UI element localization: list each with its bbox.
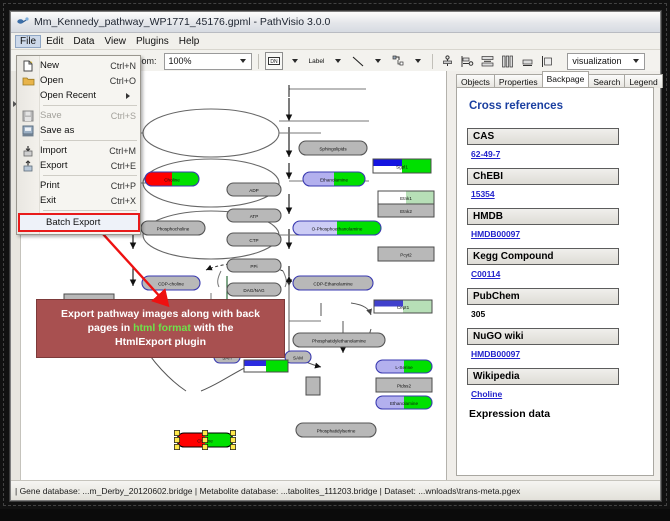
- file-menu-item-shortcut: Ctrl+M: [103, 146, 136, 156]
- callout-line-1: Export pathway images along with back: [61, 308, 260, 321]
- xref-nugo-wiki: NuGO wikiHMDB00097: [467, 328, 645, 359]
- xref-link[interactable]: 15354: [471, 189, 495, 199]
- file-menu-item-save-as[interactable]: Save as: [40, 123, 140, 138]
- xref-database-label: NuGO wiki: [467, 328, 619, 345]
- xref-database-label: Kegg Compound: [467, 248, 619, 265]
- xref-link[interactable]: HMDB00097: [471, 229, 520, 239]
- metabolite-node-adp[interactable]: ADP: [227, 183, 281, 196]
- pathvisio-app-icon: [16, 16, 29, 29]
- backpage-content: Cross references CAS62-49-7ChEBI15354HMD…: [457, 88, 653, 475]
- xref-database-label: CAS: [467, 128, 619, 145]
- tab-legend[interactable]: Legend: [624, 74, 662, 88]
- gene-node-pcyt2[interactable]: Pcyt2: [378, 247, 434, 261]
- xref-value[interactable]: 15354: [471, 189, 645, 199]
- metabolite-node-choline-top[interactable]: Choline: [145, 172, 199, 186]
- xref-cas: CAS62-49-7: [467, 128, 645, 159]
- metabolite-label: L-Serine: [395, 365, 413, 370]
- xref-value: 305: [471, 309, 645, 319]
- side-panel-tabs[interactable]: Objects Properties Backpage Search Legen…: [447, 71, 660, 87]
- metabolite-node-ppi[interactable]: PPi: [227, 259, 281, 272]
- new-file-icon: [21, 59, 35, 72]
- metabolite-node-o-phosphoethanolamine[interactable]: O-Phosphoethanolamine: [293, 221, 381, 235]
- xref-value[interactable]: HMDB00097: [471, 229, 645, 239]
- selection-handle[interactable]: [230, 444, 235, 449]
- metabolite-node-phosphatidylethanolamine[interactable]: Phosphatidylethanolamine: [293, 333, 385, 347]
- distribute-horizontal-icon[interactable]: [499, 53, 515, 69]
- visualization-value: visualization: [572, 56, 621, 66]
- metabolite-node-phosphatidylserine[interactable]: Phosphatidylserine: [296, 423, 376, 437]
- export-icon: [21, 159, 35, 172]
- chevron-down-icon[interactable]: [287, 53, 303, 69]
- selection-handle[interactable]: [174, 437, 179, 442]
- xref-wikipedia: WikipediaCholine: [467, 368, 645, 399]
- expression-data-heading: Expression data: [469, 408, 645, 420]
- node-outline: [306, 377, 320, 395]
- gene-node-ptdss2[interactable]: Ptdss2: [376, 378, 432, 392]
- gene-label: Pcyt2: [400, 252, 412, 257]
- selection-handle[interactable]: [202, 444, 207, 449]
- file-menu-item-import[interactable]: ImportCtrl+M: [40, 143, 140, 158]
- metabolite-label: Phosphatidylserine: [317, 429, 356, 434]
- menu-plugins[interactable]: Plugins: [131, 35, 174, 48]
- xref-value[interactable]: C00114: [471, 269, 645, 279]
- statusbar: | Gene database: ...m_Derby_20120602.bri…: [11, 480, 660, 500]
- file-menu-item-label: Batch Export: [20, 217, 100, 228]
- gene-label: Etnk2: [400, 209, 412, 214]
- file-menu-item-new[interactable]: NewCtrl+N: [40, 58, 140, 73]
- file-menu-item-shortcut: Ctrl+E: [105, 161, 136, 171]
- metabolite-label: DAG/NAG: [243, 288, 265, 293]
- callout-line-2: pages in html format with the: [88, 322, 234, 335]
- metabolite-label: Phosphatidylethanolamine: [312, 339, 366, 344]
- same-width-icon[interactable]: [539, 53, 555, 69]
- file-menu-separator: [43, 105, 137, 106]
- metabolite-label: Ethanolamine: [390, 401, 419, 406]
- same-height-icon[interactable]: [519, 53, 535, 69]
- chevron-down-icon[interactable]: [330, 53, 346, 69]
- file-menu-item-label: Open Recent: [40, 90, 122, 101]
- xref-value[interactable]: HMDB00097: [471, 349, 645, 359]
- annotation-callout: Export pathway images along with back pa…: [36, 299, 285, 358]
- metabolite-node-ethanolamine-bottom[interactable]: Ethanolamine: [376, 396, 432, 409]
- metabolite-node-cdp-choline[interactable]: CDP-choline: [142, 276, 200, 290]
- gene-node-sgpl1[interactable]: Sgpl1: [373, 159, 431, 173]
- metabolite-node-sphingolipids[interactable]: Sphingolipids: [299, 141, 367, 155]
- file-menu-item-batch-export[interactable]: Batch Export: [18, 213, 140, 232]
- align-left-icon[interactable]: [459, 53, 475, 69]
- expression-half-right: [266, 360, 288, 372]
- menu-edit[interactable]: Edit: [41, 35, 68, 48]
- menu-data[interactable]: Data: [68, 35, 99, 48]
- metabolite-node-ethanolamine-top[interactable]: Ethanolamine: [303, 172, 365, 186]
- metabolite-label: Choline: [164, 178, 180, 183]
- tab-properties[interactable]: Properties: [494, 74, 543, 88]
- save-as-icon: [21, 124, 35, 137]
- metabolite-node-ctp[interactable]: CTP: [227, 233, 281, 246]
- menu-file[interactable]: File: [15, 35, 41, 48]
- metabolite-label: CDP-Ethanolamine: [313, 282, 353, 287]
- xref-link[interactable]: HMDB00097: [471, 349, 520, 359]
- metabolite-label: O-Phosphoethanolamine: [312, 227, 363, 232]
- chevron-down-icon[interactable]: [370, 53, 386, 69]
- file-menu-item-exit[interactable]: ExitCtrl+X: [40, 193, 140, 208]
- callout-highlight: html format: [133, 322, 191, 334]
- selection-handle[interactable]: [174, 444, 179, 449]
- file-menu-item-shortcut: Ctrl+S: [105, 111, 136, 121]
- xref-value[interactable]: Choline: [471, 389, 645, 399]
- xref-database-label: HMDB: [467, 208, 619, 225]
- metabolite-node-phosphocholine[interactable]: Phosphocholine: [141, 221, 205, 235]
- file-menu-item-open[interactable]: OpenCtrl+O: [40, 73, 140, 88]
- toolbar-separator: [258, 54, 259, 69]
- save-disk-icon: [21, 109, 35, 122]
- cross-reference-list: CAS62-49-7ChEBI15354HMDBHMDB00097Kegg Co…: [467, 128, 645, 399]
- metabolite-label: ATP: [250, 214, 259, 219]
- metabolite-label: ADP: [249, 188, 258, 193]
- gene-label: Sgpl1: [396, 164, 408, 169]
- file-menu-popup[interactable]: NewCtrl+NOpenCtrl+OOpen RecentSaveCtrl+S…: [16, 55, 141, 235]
- file-menu-item-shortcut: Ctrl+X: [105, 196, 136, 206]
- file-menu-items[interactable]: NewCtrl+NOpenCtrl+OOpen RecentSaveCtrl+S…: [40, 56, 140, 234]
- metabolite-node-choline-selected[interactable]: Choline: [174, 430, 235, 449]
- file-menu-separator: [43, 140, 137, 141]
- selection-handle[interactable]: [230, 430, 235, 435]
- gene-label: Ptdss2: [397, 383, 411, 388]
- gene-node-unnamed-gray[interactable]: [306, 377, 320, 395]
- file-menu-item-print[interactable]: PrintCtrl+P: [40, 178, 140, 193]
- file-menu-item-label: Save: [40, 110, 105, 121]
- metabolite-node-l-serine[interactable]: L-Serine: [376, 360, 432, 373]
- gene-label: Etnk1: [400, 196, 412, 201]
- metabolite-label: CDP-choline: [158, 282, 184, 287]
- expression-half-left: [244, 360, 266, 366]
- menubar[interactable]: File Edit Data View Plugins Help: [11, 33, 660, 50]
- file-menu-item-shortcut: Ctrl+O: [104, 76, 136, 86]
- metabolite-node-sam[interactable]: SAM: [285, 351, 311, 363]
- xref-chebi: ChEBI15354: [467, 168, 645, 199]
- xref-link[interactable]: 62-49-7: [471, 149, 500, 159]
- datanode-icon[interactable]: DN: [265, 52, 283, 70]
- file-menu-item-shortcut: Ctrl+N: [104, 61, 136, 71]
- file-menu-item-label: Open: [40, 75, 104, 86]
- file-menu-item-label: Export: [40, 160, 105, 171]
- metabolite-label: PPi: [250, 264, 257, 269]
- metabolite-node-cdp-ethanolamine[interactable]: CDP-Ethanolamine: [293, 276, 373, 290]
- metabolite-label: SAM: [293, 356, 303, 361]
- file-menu-item-label: Save as: [40, 125, 130, 136]
- statusbar-text: | Gene database: ...m_Derby_20120602.bri…: [15, 486, 520, 496]
- tab-backpage[interactable]: Backpage: [542, 71, 590, 87]
- xref-value[interactable]: 62-49-7: [471, 149, 645, 159]
- metabolite-label: Phosphocholine: [157, 227, 190, 232]
- xref-database-label: Wikipedia: [467, 368, 619, 385]
- file-menu-item-label: Exit: [40, 195, 105, 206]
- xref-pubchem: PubChem305: [467, 288, 645, 319]
- svg-text:DN: DN: [270, 59, 278, 65]
- zoom-value: 100%: [169, 56, 192, 66]
- gene-node-pemt[interactable]: [244, 360, 288, 372]
- xref-database-label: PubChem: [467, 288, 619, 305]
- chevron-down-icon[interactable]: [630, 54, 642, 69]
- tab-objects[interactable]: Objects: [456, 74, 495, 88]
- label-button[interactable]: Label: [307, 58, 327, 65]
- file-menu-separator: [43, 175, 137, 176]
- metabolite-label: CTP: [249, 238, 258, 243]
- window-titlebar: Mm_Kennedy_pathway_WP1771_45176.gpml - P…: [11, 12, 660, 33]
- file-menu-item-label: Print: [40, 180, 105, 191]
- file-menu-separator: [43, 210, 137, 211]
- callout-line-3: HtmlExport plugin: [115, 336, 206, 349]
- interaction-icon[interactable]: [390, 53, 406, 69]
- file-menu-item-label: Import: [40, 145, 103, 156]
- screenshot-frame: Mm_Kennedy_pathway_WP1771_45176.gpml - P…: [0, 0, 670, 509]
- selection-handle[interactable]: [202, 430, 207, 435]
- gene-node-cept1[interactable]: Cept1: [374, 300, 432, 313]
- chevron-down-icon[interactable]: [410, 53, 426, 69]
- zoom-combobox[interactable]: 100%: [164, 53, 252, 70]
- selection-handle[interactable]: [174, 430, 179, 435]
- callout-line-2-post: with the: [191, 322, 234, 334]
- menu-view[interactable]: View: [99, 35, 131, 48]
- gene-node-etnk2[interactable]: Etnk2: [378, 204, 434, 217]
- xref-link[interactable]: Choline: [471, 389, 502, 399]
- file-menu-item-save[interactable]: SaveCtrl+S: [40, 108, 140, 123]
- pathvisio-window: Mm_Kennedy_pathway_WP1771_45176.gpml - P…: [10, 11, 661, 501]
- cross-references-heading: Cross references: [469, 100, 645, 112]
- side-panel: Objects Properties Backpage Search Legen…: [447, 71, 660, 480]
- visualization-combobox[interactable]: visualization: [567, 53, 645, 70]
- callout-line-2-pre: pages in: [88, 322, 134, 334]
- xref-link[interactable]: C00114: [471, 269, 500, 279]
- toolbar-separator: [432, 54, 433, 69]
- align-center-icon[interactable]: [439, 53, 455, 69]
- selection-handle[interactable]: [202, 437, 207, 442]
- gene-label: Cept1: [397, 305, 410, 310]
- xref-hmdb: HMDBHMDB00097: [467, 208, 645, 239]
- distribute-vertical-icon[interactable]: [479, 53, 495, 69]
- file-menu-item-shortcut: Ctrl+P: [105, 181, 136, 191]
- xref-database-label: ChEBI: [467, 168, 619, 185]
- metabolite-node-dag-nag[interactable]: DAG/NAG: [227, 283, 281, 296]
- file-menu-item-label: New: [40, 60, 104, 71]
- window-title: Mm_Kennedy_pathway_WP1771_45176.gpml - P…: [34, 16, 330, 28]
- file-menu-item-export[interactable]: ExportCtrl+E: [40, 158, 140, 173]
- chevron-down-icon[interactable]: [237, 54, 249, 69]
- backpage-panel[interactable]: Cross references CAS62-49-7ChEBI15354HMD…: [456, 87, 654, 476]
- open-folder-icon: [21, 74, 35, 87]
- metabolite-node-atp[interactable]: ATP: [227, 209, 281, 222]
- gene-node-etnk1[interactable]: Etnk1: [378, 191, 434, 204]
- selection-handle[interactable]: [230, 437, 235, 442]
- tab-search[interactable]: Search: [588, 74, 625, 88]
- metabolite-label: Sphingolipids: [319, 147, 347, 152]
- file-menu-item-open-recent[interactable]: Open Recent: [40, 88, 140, 103]
- metabolite-label: Ethanolamine: [320, 178, 349, 183]
- line-icon[interactable]: [350, 53, 366, 69]
- chevron-right-icon: [126, 93, 130, 99]
- menu-help[interactable]: Help: [174, 35, 205, 48]
- import-icon: [21, 144, 35, 157]
- xref-kegg-compound: Kegg CompoundC00114: [467, 248, 645, 279]
